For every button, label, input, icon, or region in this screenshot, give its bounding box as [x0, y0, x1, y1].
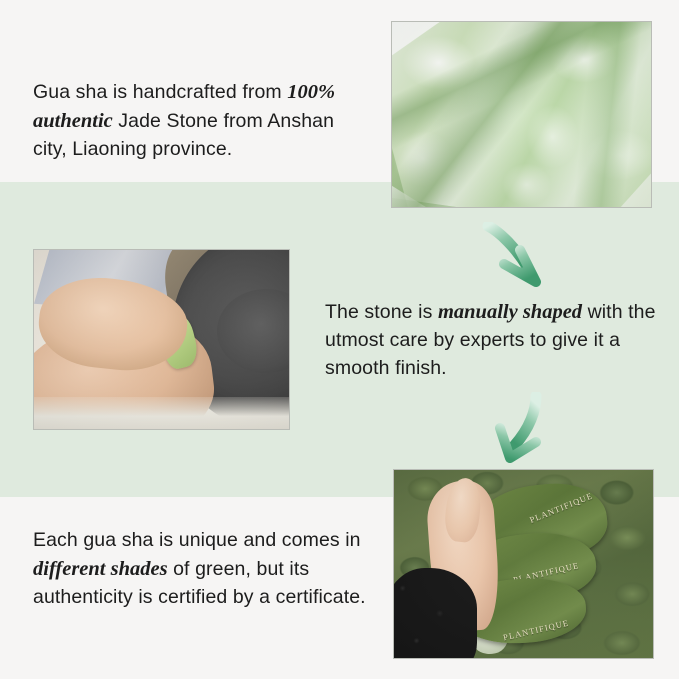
step-uniqueness-emphasis: different shades: [33, 558, 168, 580]
step-origin-text: Gua sha is handcrafted from 100% authent…: [33, 78, 373, 164]
step-uniqueness-text-before: Each gua sha is unique and comes in: [33, 529, 361, 551]
stones-photo-vignette: [394, 470, 653, 658]
step-shaping-text: The stone is manually shaped with the ut…: [325, 298, 660, 382]
gua-sha-process-infographic: Gua sha is handcrafted from 100% authent…: [0, 0, 679, 679]
raw-jade-stone-photo: [391, 21, 652, 208]
arrow-step1-to-step2-icon: [466, 222, 586, 298]
jade-shaping-photo: [33, 249, 290, 430]
finished-gua-sha-photo: PLANTIFIQUE PLANTIFIQUE PLANTIFIQUE: [393, 469, 654, 659]
step-shaping-text-before: The stone is: [325, 301, 438, 323]
jade-photo-vignette: [392, 22, 651, 207]
step-origin-text-before: Gua sha is handcrafted from: [33, 81, 287, 103]
arrow-step2-to-step3-icon: [466, 392, 586, 476]
crafting-photo-vignette: [34, 250, 289, 429]
step-uniqueness-text: Each gua sha is unique and comes in diff…: [33, 527, 388, 611]
step-shaping-emphasis: manually shaped: [438, 301, 582, 323]
